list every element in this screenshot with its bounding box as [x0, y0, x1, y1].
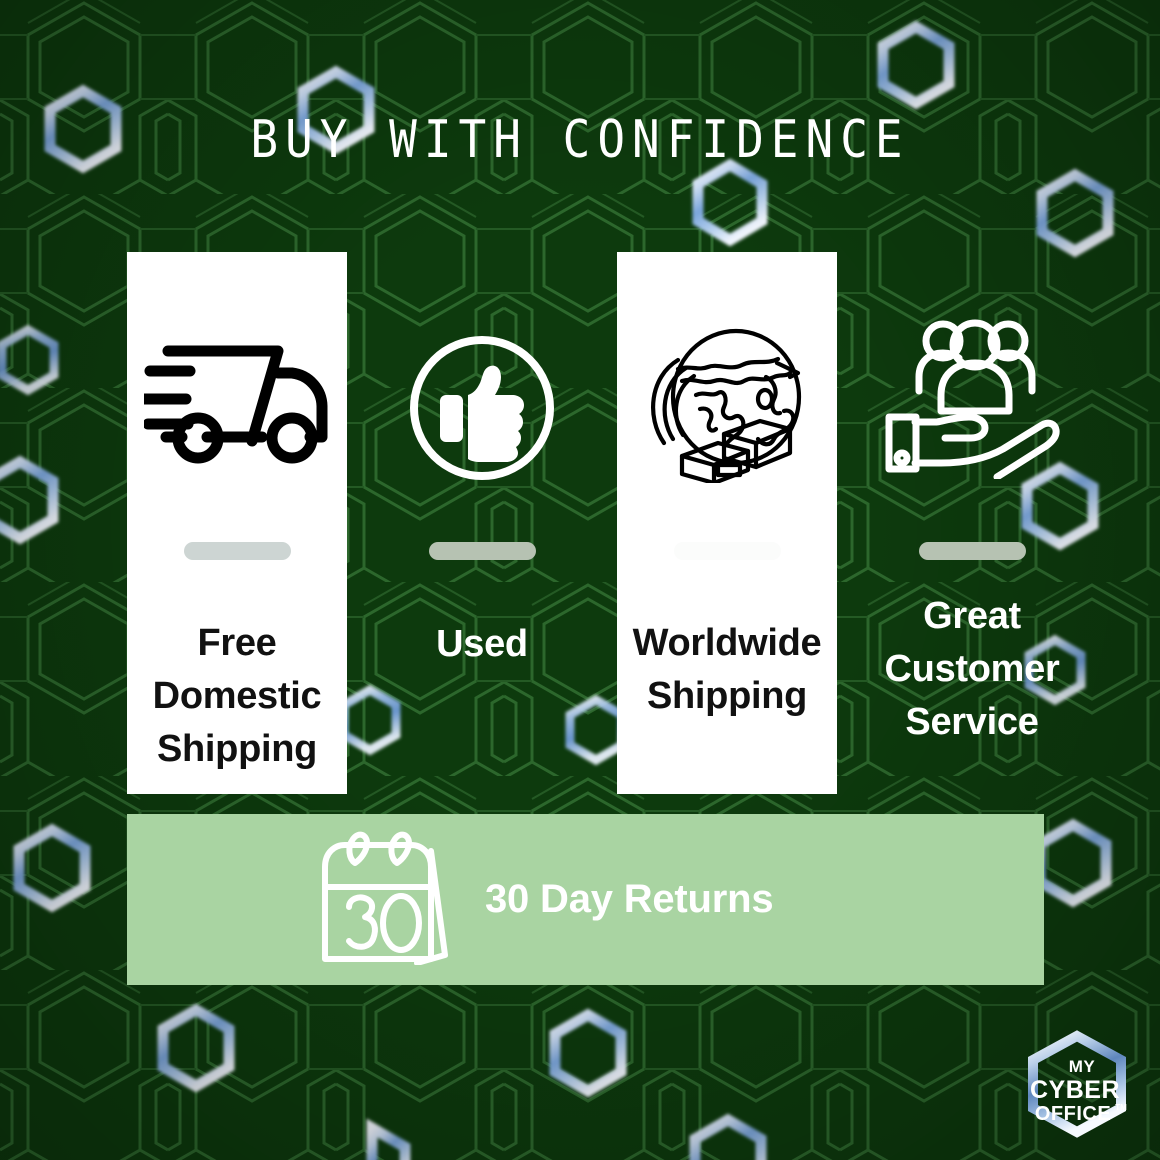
feature-card-great-customer-service[interactable]: Great Customer Service [862, 252, 1082, 794]
label-line: Customer [885, 648, 1060, 690]
delivery-truck-icon [127, 252, 347, 542]
logo-line-cyber: CYBER [1030, 1076, 1120, 1104]
feature-card-label: Free Domestic Shipping [122, 617, 352, 776]
globe-packages-icon [617, 252, 837, 542]
hand-holding-people-icon [862, 252, 1082, 514]
label-line: Used [436, 623, 528, 665]
thumbs-up-circle-icon [372, 252, 592, 542]
page-title: BUY WITH CONFIDENCE [0, 109, 1160, 169]
feature-card-used[interactable]: Used [372, 252, 592, 794]
label-line: Shipping [157, 728, 317, 770]
label-line: Service [905, 701, 1038, 743]
logo-line-my: MY [1069, 1057, 1096, 1076]
card-divider-pill [184, 542, 291, 560]
calendar-30-icon [315, 829, 449, 970]
logo-trademark: TM [1115, 1103, 1127, 1112]
feature-card-free-domestic-shipping[interactable]: Free Domestic Shipping [127, 252, 347, 794]
label-line: Domestic [153, 675, 322, 717]
label-line: Free [197, 622, 276, 664]
label-line: Worldwide [633, 622, 822, 664]
returns-banner-text: 30 Day Returns [485, 877, 773, 922]
feature-card-label: Great Customer Service [857, 590, 1087, 749]
feature-card-label: Worldwide Shipping [612, 617, 842, 723]
card-divider-pill [919, 542, 1026, 560]
feature-card-worldwide-shipping[interactable]: Worldwide Shipping [617, 252, 837, 794]
feature-cards-row: Free Domestic Shipping Used [127, 252, 1033, 794]
label-line: Shipping [647, 675, 807, 717]
promo-graphic: BUY WITH CONFIDENCE Free [0, 0, 1160, 1160]
card-divider-pill [429, 542, 536, 560]
feature-card-label: Used [367, 618, 597, 671]
returns-banner[interactable]: 30 Day Returns [127, 814, 1044, 985]
brand-logo[interactable]: MY CYBER OFFICE TM [1018, 1030, 1136, 1138]
logo-line-office: OFFICE [1035, 1103, 1111, 1125]
card-divider-pill [674, 542, 781, 560]
label-line: Great [923, 595, 1021, 637]
